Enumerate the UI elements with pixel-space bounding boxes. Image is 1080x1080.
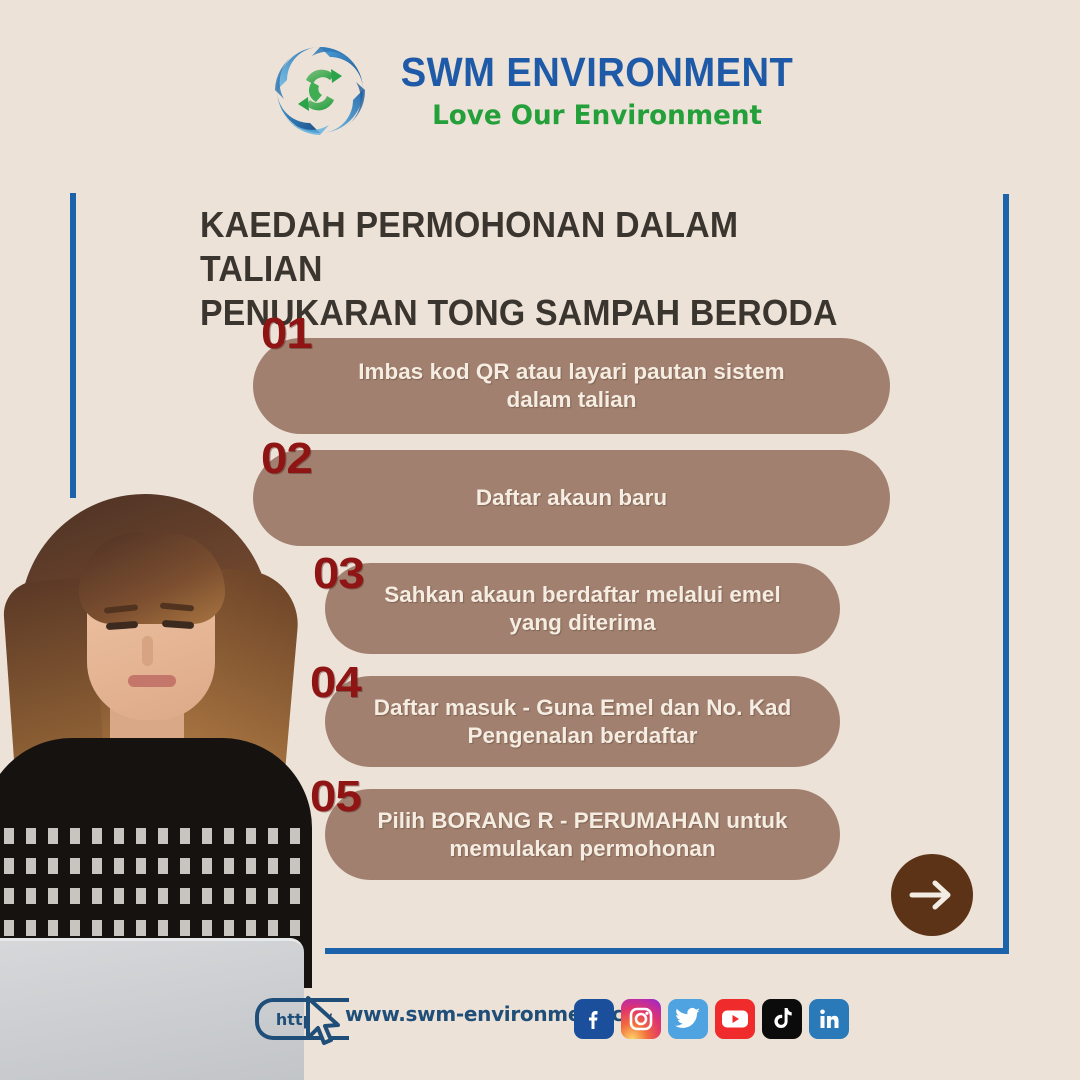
brand-text-block: SWM ENVIRONMENT Love Our Environment bbox=[386, 52, 808, 129]
step-pill-01[interactable]: Imbas kod QR atau layari pautan sistem d… bbox=[253, 338, 890, 434]
mouse-cursor-icon bbox=[300, 994, 344, 1053]
brand-name: SWM ENVIRONMENT bbox=[401, 52, 794, 93]
step-text-03: Sahkan akaun berdaftar melalui emel yang… bbox=[384, 581, 780, 637]
step-pill-02[interactable]: Daftar akaun baru bbox=[253, 450, 890, 546]
brand-header: SWM ENVIRONMENT Love Our Environment bbox=[0, 30, 1080, 150]
frame-line-right bbox=[1003, 194, 1009, 954]
step-pill-04[interactable]: Daftar masuk - Guna Emel dan No. Kad Pen… bbox=[325, 676, 840, 767]
frame-line-bottom bbox=[325, 948, 1009, 954]
recycle-swirl-logo-icon bbox=[272, 42, 368, 138]
social-links bbox=[574, 999, 849, 1039]
step-number-01: 01 bbox=[261, 312, 312, 356]
step-text-05: Pilih BORANG R - PERUMAHAN untuk memulak… bbox=[378, 807, 788, 863]
step-text-02: Daftar akaun baru bbox=[476, 484, 667, 512]
step-number-05: 05 bbox=[310, 775, 361, 819]
youtube-icon[interactable] bbox=[715, 999, 755, 1039]
step-number-02: 02 bbox=[261, 437, 312, 481]
step-pill-05[interactable]: Pilih BORANG R - PERUMAHAN untuk memulak… bbox=[325, 789, 840, 880]
infographic-poster: SWM ENVIRONMENT Love Our Environment KAE… bbox=[0, 0, 1080, 1080]
tiktok-icon[interactable] bbox=[762, 999, 802, 1039]
next-arrow-button[interactable] bbox=[891, 854, 973, 936]
step-text-01: Imbas kod QR atau layari pautan sistem d… bbox=[358, 358, 784, 414]
instagram-icon[interactable] bbox=[621, 999, 661, 1039]
step-number-03: 03 bbox=[313, 552, 364, 596]
step-number-04: 04 bbox=[310, 661, 361, 705]
frame-line-left bbox=[70, 193, 76, 498]
facebook-icon[interactable] bbox=[574, 999, 614, 1039]
twitter-icon[interactable] bbox=[668, 999, 708, 1039]
step-text-04: Daftar masuk - Guna Emel dan No. Kad Pen… bbox=[374, 694, 792, 750]
footer-bar: http:// www.swm-environment.com bbox=[0, 988, 1080, 1058]
linkedin-icon[interactable] bbox=[809, 999, 849, 1039]
brand-tagline: Love Our Environment bbox=[432, 102, 762, 129]
step-pill-03[interactable]: Sahkan akaun berdaftar melalui emel yang… bbox=[325, 563, 840, 654]
arrow-right-icon bbox=[909, 878, 955, 912]
